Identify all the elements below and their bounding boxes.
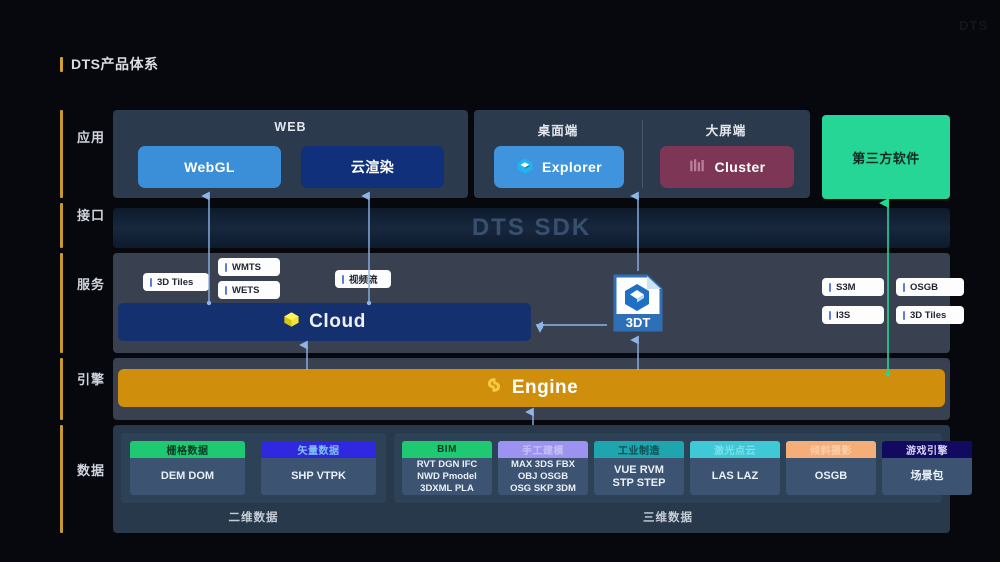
diagram-canvas: DTS DTS产品体系 应用 接口 服务 引擎 数据 WEB WebGL 云渲染… <box>0 0 1000 562</box>
connector-arrows <box>0 0 1000 562</box>
